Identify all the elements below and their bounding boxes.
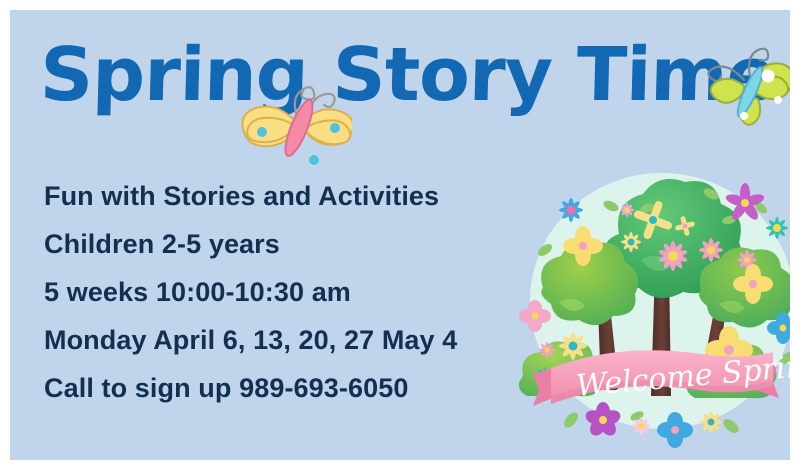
detail-line-schedule: 5 weeks 10:00-10:30 am: [44, 268, 457, 316]
butterfly-yellow-icon: [232, 68, 352, 178]
flower-teal-daisy: [766, 217, 788, 239]
flower-pink-shrub-left: [539, 342, 555, 358]
detail-line-dates: Monday April 6, 13, 20, 27 May 4: [44, 316, 457, 364]
spring-trees-illustration: Welcome Spring: [515, 168, 790, 453]
detail-line-activities: Fun with Stories and Activities: [44, 172, 457, 220]
detail-line-ages: Children 2-5 years: [44, 220, 457, 268]
flower-pale-pink-front: [632, 417, 650, 435]
flower-pink-daisy-right: [699, 238, 723, 262]
flower-tiny-pink: [620, 203, 634, 217]
detail-line-phone: Call to sign up 989-693-6050: [44, 364, 457, 412]
spring-scene-svg: Welcome Spring: [515, 168, 790, 453]
flower-yellow-front: [700, 411, 722, 433]
flower-yellow-shrub-left: [559, 332, 587, 360]
page-title: Spring Story Time: [39, 32, 777, 118]
butterfly-right-wing-lower: [304, 120, 350, 144]
flyer-details: Fun with Stories and Activities Children…: [44, 172, 457, 412]
flyer-poster: Welcome Spring: [10, 10, 790, 460]
flower-yellow-daisy: [621, 232, 641, 252]
butterfly-green-wing-upper-left: [711, 79, 744, 103]
butterfly-green-icon: [700, 38, 790, 136]
flower-blue-daisy: [559, 198, 583, 222]
